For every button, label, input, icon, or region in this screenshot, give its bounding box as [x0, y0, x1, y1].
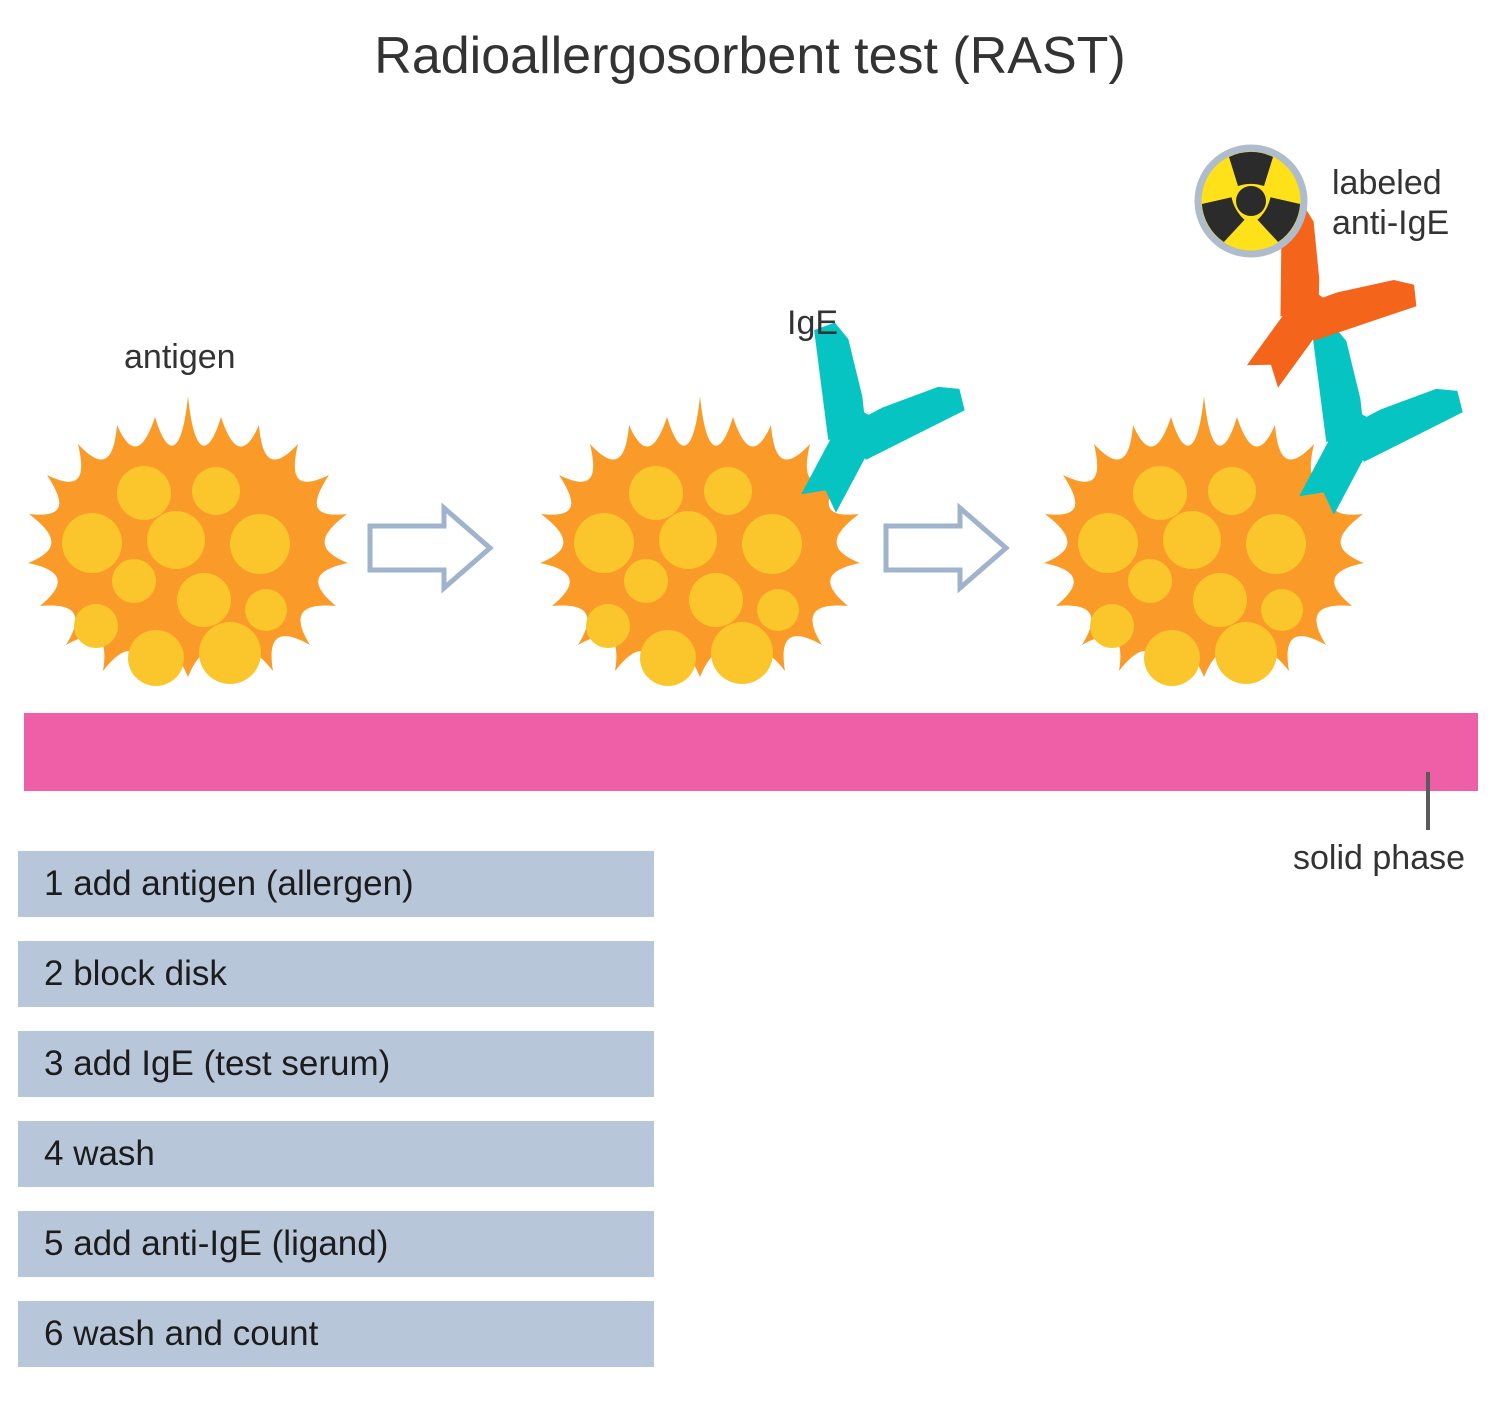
right-arrow-icon — [886, 508, 1006, 588]
protocol-steps-list: 1 add antigen (allergen) 2 block disk 3 … — [18, 851, 654, 1391]
step-row: 3 add IgE (test serum) — [18, 1031, 654, 1097]
panel-1-antigen — [28, 396, 348, 686]
step-label: 2 block disk — [18, 954, 227, 994]
step-label: 6 wash and count — [18, 1314, 318, 1354]
antigen-particle — [28, 396, 348, 686]
antigen-particle — [1044, 396, 1364, 686]
right-arrow-icon — [370, 508, 490, 588]
panel-2-ige-bound — [540, 316, 972, 686]
solid-phase-label: solid phase — [1293, 838, 1465, 878]
antigen-label: antigen — [124, 337, 236, 377]
solid-phase-bar — [24, 713, 1478, 791]
diagram-canvas: Radioallergosorbent test (RAST) — [0, 0, 1500, 1416]
step-row: 4 wash — [18, 1121, 654, 1187]
step-row: 1 add antigen (allergen) — [18, 851, 654, 917]
step-row: 2 block disk — [18, 941, 654, 1007]
step-label: 5 add anti-IgE (ligand) — [18, 1224, 388, 1264]
labeled-anti-ige-label-line1: labeled — [1332, 163, 1449, 203]
labeled-anti-ige-label: labeled anti-IgE — [1332, 163, 1449, 243]
step-row: 5 add anti-IgE (ligand) — [18, 1211, 654, 1277]
antigen-particle — [540, 396, 860, 686]
step-label: 4 wash — [18, 1134, 155, 1174]
ige-label: IgE — [787, 303, 838, 343]
radiation-trefoil-icon — [1197, 148, 1304, 254]
step-label: 1 add antigen (allergen) — [18, 864, 414, 904]
step-label: 3 add IgE (test serum) — [18, 1044, 390, 1084]
step-row: 6 wash and count — [18, 1301, 654, 1367]
labeled-anti-ige-label-line2: anti-IgE — [1332, 203, 1449, 243]
